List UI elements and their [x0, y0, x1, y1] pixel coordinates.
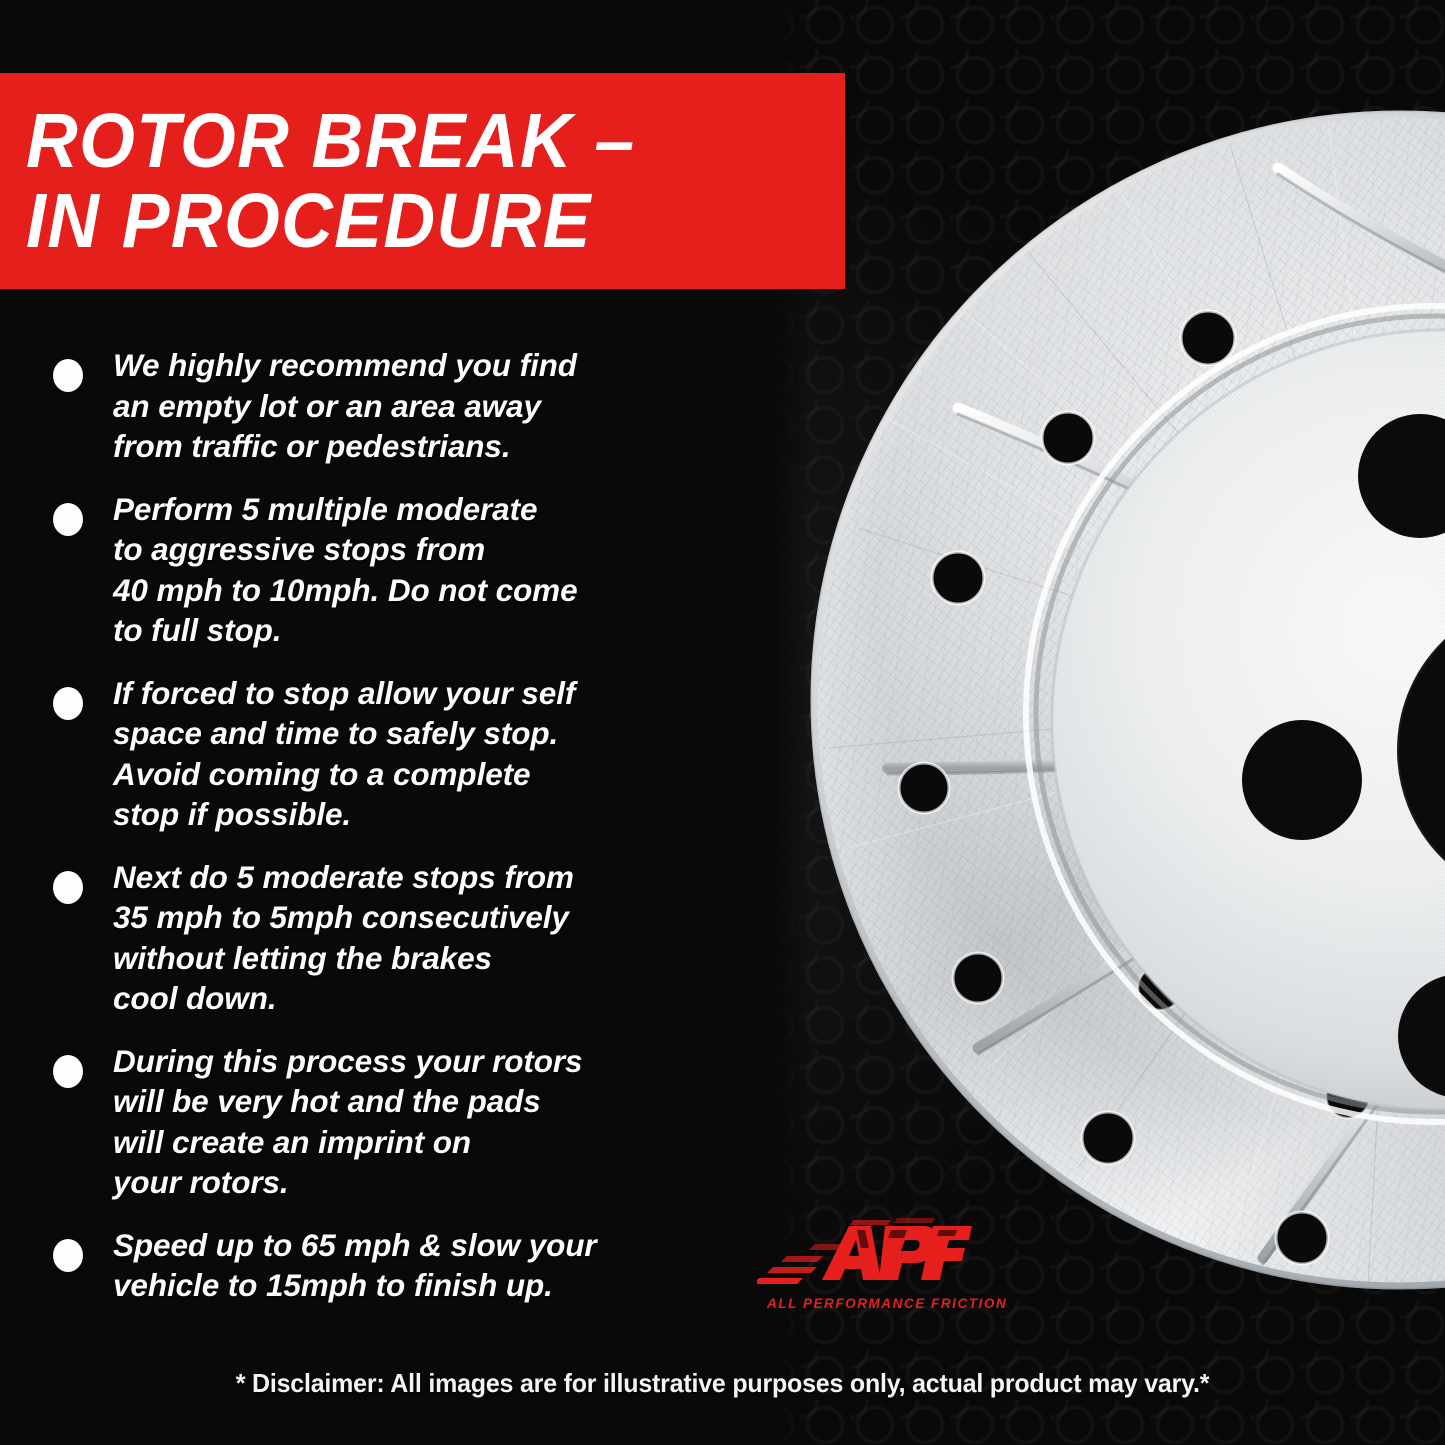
instruction-list: We highly recommend you find an empty lo… — [0, 345, 790, 1328]
bullet-dot-icon — [53, 1239, 83, 1272]
page-title-line2: IN PROCEDURE — [26, 181, 788, 261]
list-item-text: During this process your rotors will be … — [113, 1041, 790, 1203]
list-item: If forced to stop allow your self space … — [0, 673, 790, 835]
list-item: We highly recommend you find an empty lo… — [0, 345, 790, 467]
bullet-dot-icon — [53, 503, 83, 536]
list-item: Next do 5 moderate stops from 35 mph to … — [0, 857, 790, 1019]
page-title-line1: ROTOR BREAK – — [26, 101, 788, 181]
list-item: Speed up to 65 mph & slow your vehicle t… — [0, 1225, 790, 1306]
bullet-dot-icon — [53, 359, 83, 392]
bullet-dot-icon — [53, 1055, 83, 1088]
apf-wordmark-icon — [757, 1218, 972, 1293]
apf-tagline: ALL PERFORMANCE FRICTION — [767, 1296, 972, 1311]
title-banner: ROTOR BREAK – IN PROCEDURE — [0, 73, 845, 289]
list-item-text: We highly recommend you find an empty lo… — [113, 345, 790, 467]
bullet-dot-icon — [53, 687, 83, 720]
list-item-text: Next do 5 moderate stops from 35 mph to … — [113, 857, 790, 1019]
list-item: Perform 5 multiple moderate to aggressiv… — [0, 489, 790, 651]
list-item-text: If forced to stop allow your self space … — [113, 673, 790, 835]
list-item: During this process your rotors will be … — [0, 1041, 790, 1203]
disclaimer-text: * Disclaimer: All images are for illustr… — [29, 1368, 1416, 1399]
apf-logo: ALL PERFORMANCE FRICTION — [757, 1218, 972, 1323]
list-item-text: Speed up to 65 mph & slow your vehicle t… — [113, 1225, 790, 1306]
poster-canvas: ROTOR BREAK – IN PROCEDURE We highly rec… — [0, 0, 1445, 1445]
list-item-text: Perform 5 multiple moderate to aggressiv… — [113, 489, 790, 651]
bullet-dot-icon — [53, 871, 83, 904]
